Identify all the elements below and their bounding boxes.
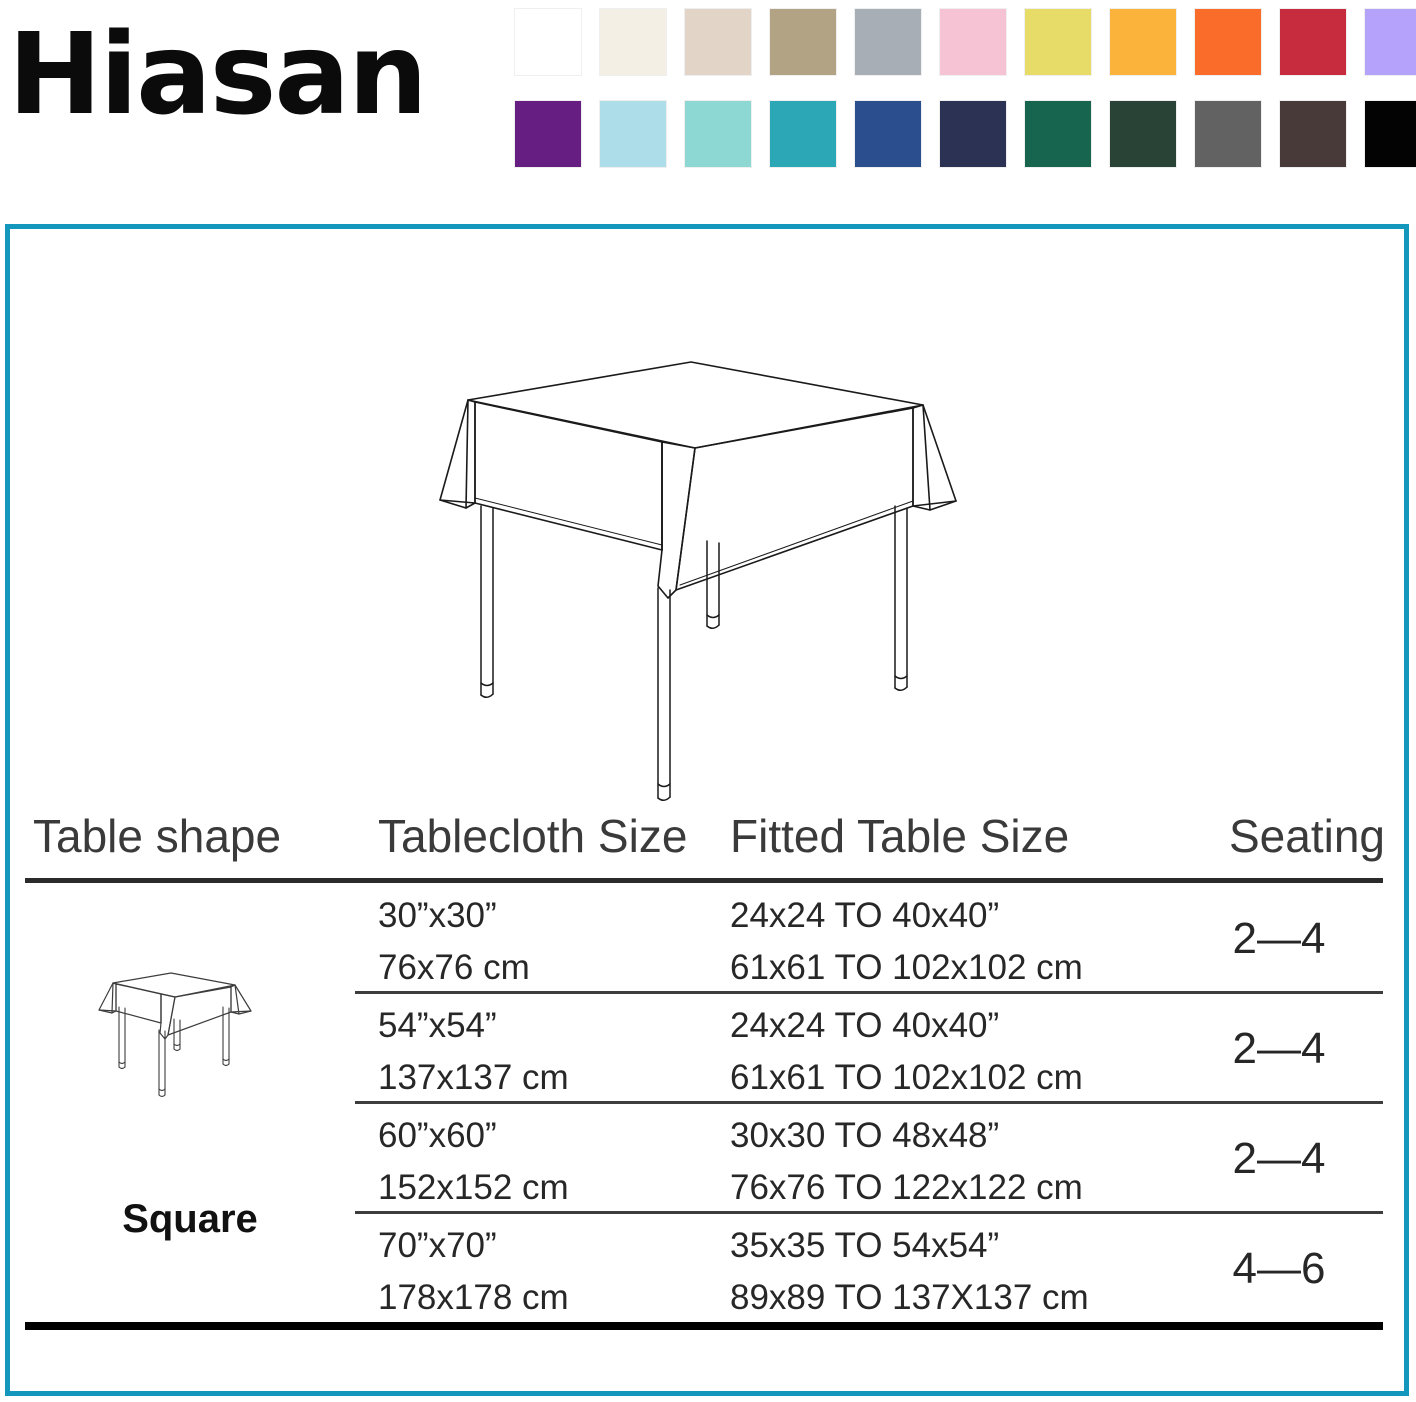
cloth-size-inches: 60”x60”: [378, 1109, 569, 1163]
table-bottom-divider: [25, 1322, 1383, 1330]
fitted-size-inches: 35x35 TO 54x54”: [730, 1219, 1089, 1273]
column-header-fitted-table-size: Fitted Table Size: [730, 806, 1069, 866]
color-swatch-cream[interactable]: [599, 8, 667, 76]
column-header-tablecloth-size: Tablecloth Size: [378, 806, 687, 866]
cloth-size-cm: 178x178 cm: [378, 1273, 569, 1323]
cell-tablecloth-size: 54”x54” 137x137 cm: [378, 999, 569, 1103]
table-row: 30”x30” 76x76 cm 24x24 TO 40x40” 61x61 T…: [25, 884, 1383, 994]
cloth-size-inches: 70”x70”: [378, 1219, 569, 1273]
color-swatch-taupe[interactable]: [769, 8, 837, 76]
column-header-table-shape: Table shape: [33, 806, 281, 866]
color-swatch-lavender[interactable]: [1364, 8, 1416, 76]
cell-fitted-table-size: 35x35 TO 54x54” 89x89 TO 137X137 cm: [730, 1219, 1089, 1323]
cell-fitted-table-size: 24x24 TO 40x40” 61x61 TO 102x102 cm: [730, 999, 1083, 1103]
fitted-size-inches: 30x30 TO 48x48”: [730, 1109, 1083, 1163]
fitted-size-inches: 24x24 TO 40x40”: [730, 999, 1083, 1053]
color-swatch-blue[interactable]: [854, 100, 922, 168]
fitted-size-cm: 61x61 TO 102x102 cm: [730, 1053, 1083, 1103]
color-swatch-gold[interactable]: [1109, 8, 1177, 76]
color-swatch-grid: [514, 8, 1409, 192]
product-infographic: Hiasan: [0, 0, 1416, 1402]
cell-fitted-table-size: 30x30 TO 48x48” 76x76 TO 122x122 cm: [730, 1109, 1083, 1213]
color-swatch-dark-green[interactable]: [1109, 100, 1177, 168]
cloth-size-cm: 76x76 cm: [378, 943, 530, 993]
column-header-seating: Seating: [1229, 806, 1385, 866]
color-swatch-black[interactable]: [1364, 100, 1416, 168]
size-chart-table: Table shape Tablecloth Size Fitted Table…: [25, 806, 1385, 1336]
color-swatch-brown[interactable]: [1279, 100, 1347, 168]
color-swatch-gray[interactable]: [854, 8, 922, 76]
cell-tablecloth-size: 60”x60” 152x152 cm: [378, 1109, 569, 1213]
fitted-size-cm: 89x89 TO 137X137 cm: [730, 1273, 1089, 1323]
color-swatch-yellow[interactable]: [1024, 8, 1092, 76]
color-swatch-row-2: [514, 100, 1409, 168]
cloth-size-cm: 137x137 cm: [378, 1053, 569, 1103]
cell-seating: 2—4: [1175, 994, 1383, 1104]
header-divider: [25, 878, 1383, 883]
cloth-size-inches: 30”x30”: [378, 889, 530, 943]
color-swatch-row-1: [514, 8, 1409, 76]
cell-tablecloth-size: 70”x70” 178x178 cm: [378, 1219, 569, 1323]
color-swatch-light-blue[interactable]: [599, 100, 667, 168]
table-row: 54”x54” 137x137 cm 24x24 TO 40x40” 61x61…: [25, 994, 1383, 1104]
cell-tablecloth-size: 30”x30” 76x76 cm: [378, 889, 530, 993]
color-swatch-red[interactable]: [1279, 8, 1347, 76]
color-swatch-aqua[interactable]: [684, 100, 752, 168]
fitted-size-inches: 24x24 TO 40x40”: [730, 889, 1083, 943]
color-swatch-navy[interactable]: [939, 100, 1007, 168]
color-swatch-charcoal[interactable]: [1194, 100, 1262, 168]
cloth-size-inches: 54”x54”: [378, 999, 569, 1053]
color-swatch-orange[interactable]: [1194, 8, 1262, 76]
color-swatch-teal[interactable]: [769, 100, 837, 168]
square-table-illustration: [418, 338, 978, 803]
cell-seating: 4—6: [1175, 1214, 1383, 1324]
color-swatch-beige[interactable]: [684, 8, 752, 76]
color-swatch-green[interactable]: [1024, 100, 1092, 168]
cloth-size-cm: 152x152 cm: [378, 1163, 569, 1213]
color-swatch-pink[interactable]: [939, 8, 1007, 76]
color-swatch-purple[interactable]: [514, 100, 582, 168]
cell-fitted-table-size: 24x24 TO 40x40” 61x61 TO 102x102 cm: [730, 889, 1083, 993]
table-body: 30”x30” 76x76 cm 24x24 TO 40x40” 61x61 T…: [25, 884, 1383, 1324]
table-row: 70”x70” 178x178 cm 35x35 TO 54x54” 89x89…: [25, 1214, 1383, 1324]
color-swatch-white[interactable]: [514, 8, 582, 76]
fitted-size-cm: 76x76 TO 122x122 cm: [730, 1163, 1083, 1213]
cell-seating: 2—4: [1175, 884, 1383, 994]
table-row: 60”x60” 152x152 cm 30x30 TO 48x48” 76x76…: [25, 1104, 1383, 1214]
fitted-size-cm: 61x61 TO 102x102 cm: [730, 943, 1083, 993]
brand-logo: Hiasan: [8, 8, 478, 143]
cell-seating: 2—4: [1175, 1104, 1383, 1214]
table-header-row: Table shape Tablecloth Size Fitted Table…: [25, 806, 1385, 878]
